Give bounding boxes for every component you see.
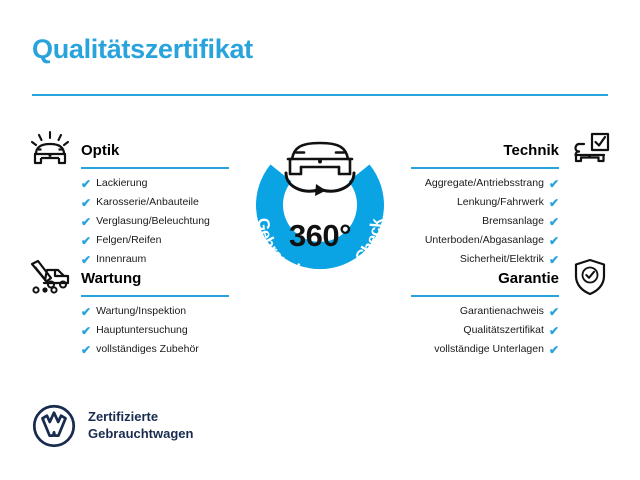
list-item-label: Bremsanlage bbox=[482, 216, 544, 227]
check-icon: ✔ bbox=[549, 216, 559, 228]
list-item-label: Karosserie/Anbauteile bbox=[96, 197, 199, 208]
list-item-label: Qualitätszertifikat bbox=[463, 325, 544, 336]
section-garantie: Garantie Garantienachweis ✔ Qualitätszer… bbox=[411, 256, 616, 359]
list-item-label: Lenkung/Fahrwerk bbox=[457, 197, 544, 208]
list-item-label: Felgen/Reifen bbox=[96, 235, 161, 246]
list-item-label: vollständiges Zubehör bbox=[96, 344, 199, 355]
section-technik: Technik Aggregate/Antriebsstrang ✔ Lenku… bbox=[411, 128, 616, 269]
check-icon: ✔ bbox=[549, 306, 559, 318]
list-item-label: Hauptuntersuchung bbox=[96, 325, 188, 336]
section-technik-list: Aggregate/Antriebsstrang ✔ Lenkung/Fahrw… bbox=[411, 174, 616, 269]
check-icon: ✔ bbox=[81, 197, 91, 209]
list-item: vollständige Unterlagen ✔ bbox=[411, 340, 616, 359]
section-garantie-list: Garantienachweis ✔ Qualitätszertifikat ✔… bbox=[411, 302, 616, 359]
list-item: Garantienachweis ✔ bbox=[411, 302, 616, 321]
section-garantie-title: Garantie bbox=[498, 270, 559, 287]
footer-line-2: Gebrauchtwagen bbox=[88, 426, 193, 443]
check-icon: ✔ bbox=[81, 306, 91, 318]
car-wrench-service-icon bbox=[24, 256, 76, 298]
list-item-label: vollständige Unterlagen bbox=[434, 344, 544, 355]
list-item: ✔ Hauptuntersuchung bbox=[24, 321, 229, 340]
section-wartung-divider bbox=[81, 295, 229, 297]
section-optik: Optik ✔ Lackierung ✔ Karosserie/Anbautei… bbox=[24, 128, 229, 269]
list-item: Lenkung/Fahrwerk ✔ bbox=[411, 193, 616, 212]
section-technik-title: Technik bbox=[503, 142, 559, 159]
volkswagen-logo bbox=[32, 404, 76, 448]
section-technik-divider bbox=[411, 167, 559, 169]
list-item: ✔ Verglasung/Beleuchtung bbox=[24, 212, 229, 231]
check-icon: ✔ bbox=[549, 344, 559, 356]
list-item: Bremsanlage ✔ bbox=[411, 212, 616, 231]
list-item: Aggregate/Antriebsstrang ✔ bbox=[411, 174, 616, 193]
section-technik-header: Technik bbox=[411, 128, 616, 174]
footer-text: Zertifizierte Gebrauchtwagen bbox=[88, 409, 193, 442]
check-icon: ✔ bbox=[549, 178, 559, 190]
footer-line-1: Zertifizierte bbox=[88, 409, 193, 426]
badge-360-gebrauchtwagen-check: Gebrauchtwagen-Check 360° bbox=[228, 118, 412, 302]
car-rotation-360-icon bbox=[288, 143, 352, 174]
list-item-label: Verglasung/Beleuchtung bbox=[96, 216, 210, 227]
list-item-label: Garantienachweis bbox=[460, 306, 544, 317]
check-icon: ✔ bbox=[549, 197, 559, 209]
section-optik-list: ✔ Lackierung ✔ Karosserie/Anbauteile ✔ V… bbox=[24, 174, 229, 269]
list-item: ✔ Karosserie/Anbauteile bbox=[24, 193, 229, 212]
check-icon: ✔ bbox=[81, 235, 91, 247]
list-item: ✔ Felgen/Reifen bbox=[24, 231, 229, 250]
list-item: ✔ Lackierung bbox=[24, 174, 229, 193]
check-icon: ✔ bbox=[81, 178, 91, 190]
check-icon: ✔ bbox=[549, 325, 559, 337]
check-icon: ✔ bbox=[81, 216, 91, 228]
check-icon: ✔ bbox=[549, 235, 559, 247]
check-icon: ✔ bbox=[81, 344, 91, 356]
section-garantie-divider bbox=[411, 295, 559, 297]
section-optik-divider bbox=[81, 167, 229, 169]
section-optik-header: Optik bbox=[24, 128, 229, 174]
car-checkbox-icon bbox=[564, 128, 616, 170]
list-item-label: Aggregate/Antriebsstrang bbox=[425, 178, 544, 189]
page-title: Qualitätszertifikat bbox=[32, 34, 253, 65]
list-item: ✔ vollständiges Zubehör bbox=[24, 340, 229, 359]
section-wartung-header: Wartung bbox=[24, 256, 229, 302]
section-garantie-header: Garantie bbox=[411, 256, 616, 302]
section-wartung-title: Wartung bbox=[81, 270, 141, 287]
qualitaetszertifikat-page: Qualitätszertifikat bbox=[0, 0, 640, 480]
section-wartung-list: ✔ Wartung/Inspektion ✔ Hauptuntersuchung… bbox=[24, 302, 229, 359]
badge-number: 360° bbox=[228, 218, 412, 254]
shield-check-icon bbox=[564, 256, 616, 298]
list-item-label: Wartung/Inspektion bbox=[96, 306, 186, 317]
list-item: Unterboden/Abgasanlage ✔ bbox=[411, 231, 616, 250]
list-item-label: Lackierung bbox=[96, 178, 147, 189]
list-item: ✔ Wartung/Inspektion bbox=[24, 302, 229, 321]
list-item: Qualitätszertifikat ✔ bbox=[411, 321, 616, 340]
footer-brand: Zertifizierte Gebrauchtwagen bbox=[32, 404, 193, 448]
section-optik-title: Optik bbox=[81, 142, 119, 159]
title-divider bbox=[32, 94, 608, 96]
section-wartung: Wartung ✔ Wartung/Inspektion ✔ Hauptunte… bbox=[24, 256, 229, 359]
list-item-label: Unterboden/Abgasanlage bbox=[425, 235, 544, 246]
check-icon: ✔ bbox=[81, 325, 91, 337]
car-shine-icon bbox=[24, 128, 76, 170]
